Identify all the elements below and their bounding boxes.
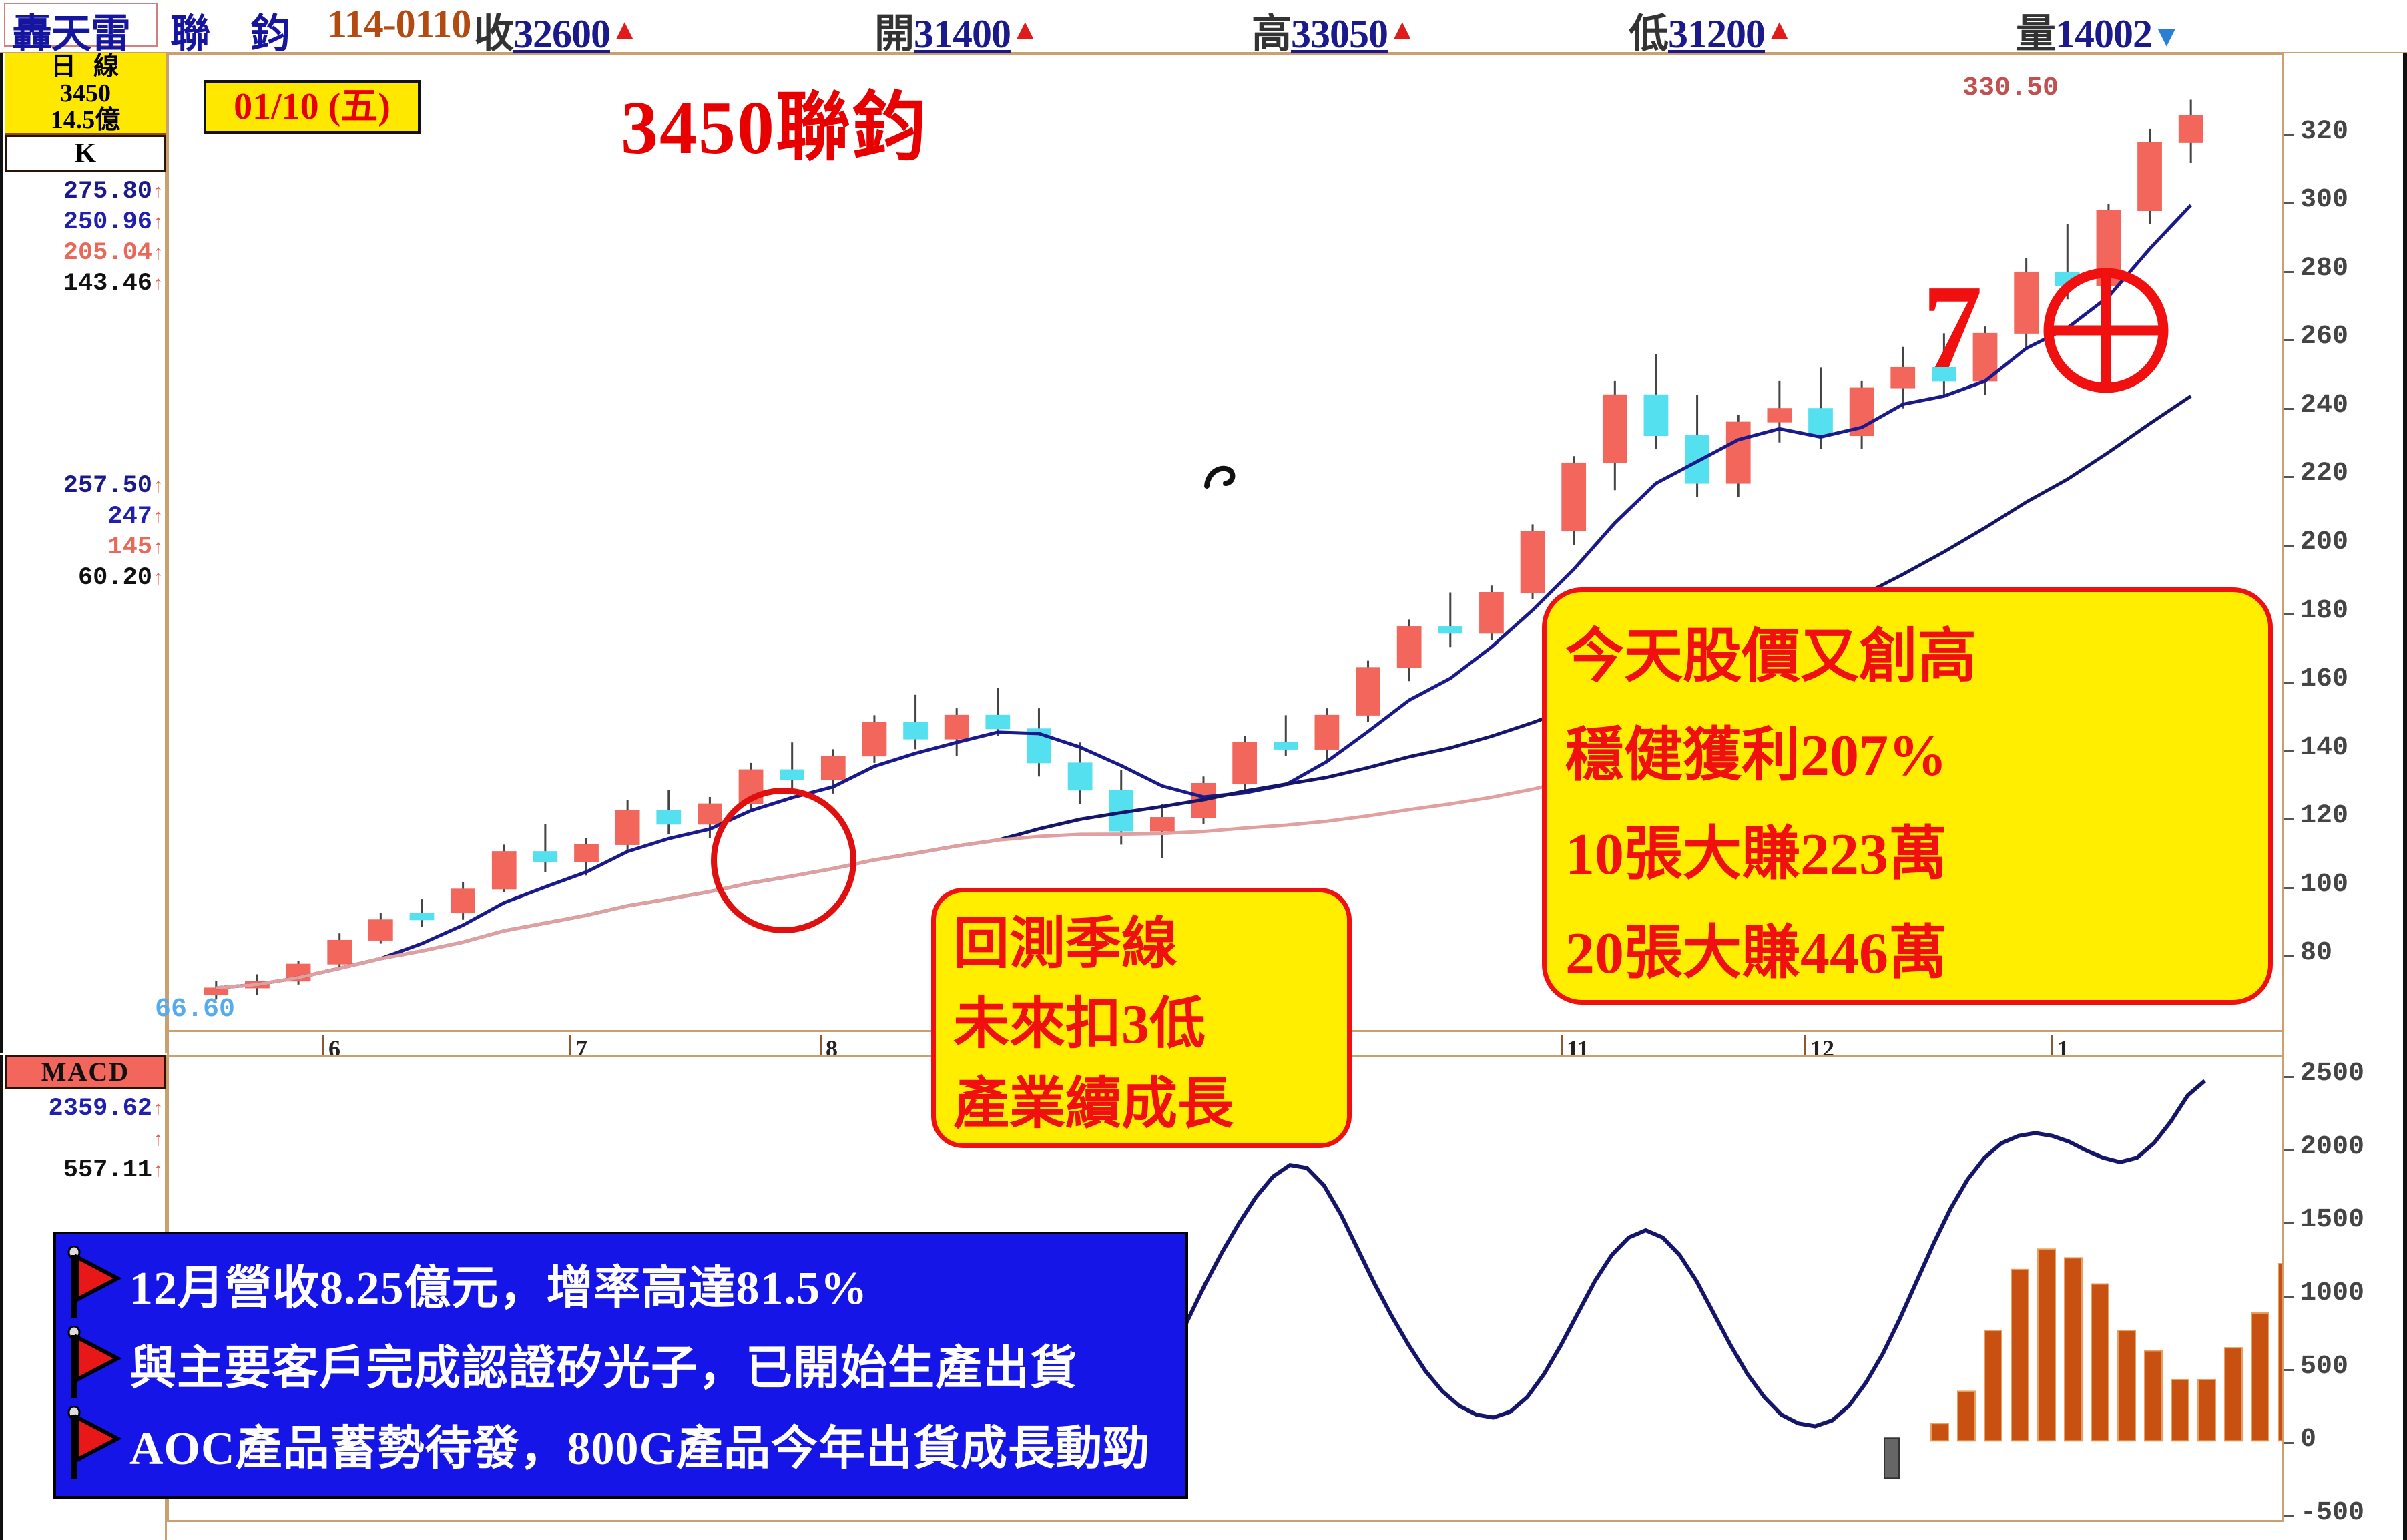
ma-row: 145↑	[3, 532, 167, 563]
price-axis-tick-label: 140	[2300, 733, 2348, 763]
up-arrow-icon: ▲	[1011, 13, 1039, 46]
stock-name-2: 鈞	[250, 1, 290, 59]
news-item: AOC產品蓄勢待發，800G產品今年出貨成長動勁	[65, 1404, 1185, 1484]
price-axis-tick-label: 200	[2300, 527, 2348, 557]
ma-row: 205.04↑	[3, 238, 167, 268]
ma-row: 143.46↑	[3, 268, 167, 299]
ma-value: 60.20	[78, 564, 152, 592]
quote-high-label: 高	[1252, 12, 1291, 56]
price-axis-tick-label: 220	[2300, 459, 2348, 489]
macd-row: ↑	[3, 1124, 167, 1155]
ma-row: 247↑	[3, 501, 167, 532]
callout-profit-line: 穩健獲利207%	[1565, 707, 2268, 806]
macd-row: 557.11↑	[3, 1155, 167, 1186]
macd-axis-tick-label: 1500	[2300, 1205, 2364, 1235]
stock-name-prefix: 轟天雷	[12, 1, 130, 59]
turnover-label: 14.5億	[5, 107, 166, 134]
quote-volume-label: 量	[2016, 12, 2055, 56]
up-arrow-icon: ▲	[1388, 13, 1416, 46]
price-axis-tickmark	[2284, 613, 2294, 615]
macd-axis-tick-label: 2000	[2300, 1132, 2364, 1162]
quote-high: 高33050▲	[1252, 1, 1416, 59]
price-axis-tickmark	[2284, 476, 2294, 478]
quote-volume: 量14002▼	[2016, 1, 2181, 59]
ma-row: 257.50↑	[3, 471, 167, 501]
callout-ma-line: 未來扣3低	[953, 985, 1347, 1065]
price-axis-tick-label: 320	[2300, 117, 2348, 147]
news-banner: 12月營收8.25億元，增率高達81.5% 與主要客戶完成認證矽光子，已開始生產…	[53, 1232, 1188, 1499]
low-price-annotation: 66.60	[155, 995, 235, 1025]
high-price-annotation: 330.50	[1962, 73, 2059, 103]
macd-values: 2359.62↑ ↑ 557.11↑	[3, 1093, 167, 1186]
pullback-highlight-circle	[711, 788, 856, 933]
callout-profit: 今天股價又創高 穩健獲利207% 10張大賺223萬 20張大賺446萬	[1542, 587, 2273, 1005]
period-badge[interactable]: 日線 3450 14.5億	[5, 53, 166, 135]
ma-value: 145	[107, 533, 152, 561]
macd-axis-tickmark	[2284, 1442, 2294, 1444]
price-axis-tickmark	[2284, 750, 2294, 752]
price-axis-tickmark	[2284, 134, 2294, 136]
up-arrow-icon: ↑	[152, 476, 164, 499]
macd-axis-tickmark	[2284, 1076, 2294, 1078]
price-axis-tick-label: 280	[2300, 254, 2348, 284]
price-axis-tickmark	[2284, 408, 2294, 410]
ma-value: 205.04	[63, 239, 152, 267]
seven-marker: 7	[1922, 267, 1982, 387]
hook-annotation	[1201, 461, 1242, 501]
ma-row: 60.20↑	[3, 563, 167, 593]
callout-ma-line: 回測季線	[953, 905, 1347, 985]
quote-low-label: 低	[1629, 12, 1668, 56]
up-arrow-icon: ↑	[152, 537, 164, 560]
macd-axis-tick-label: 500	[2300, 1352, 2348, 1382]
callout-profit-line: 20張大賺446萬	[1565, 905, 2268, 1003]
ma-value: 247	[107, 503, 152, 531]
up-arrow-icon: ↑	[152, 507, 164, 529]
quote-volume-value: 14002	[2055, 12, 2152, 56]
ma-values-group-2: 257.50↑ 247↑ 145↑ 60.20↑	[3, 471, 167, 593]
quote-low-value: 31200	[1668, 12, 1765, 56]
macd-axis-tick-label: -500	[2300, 1498, 2364, 1528]
callout-profit-line: 10張大賺223萬	[1565, 806, 2268, 905]
quote-close-label: 收	[474, 12, 513, 56]
price-axis-tick-label: 300	[2300, 185, 2348, 215]
up-arrow-icon: ↑	[152, 568, 164, 591]
ma-row: 250.96↑	[3, 207, 167, 238]
price-axis-tickmark	[2284, 955, 2294, 957]
price-axis-tickmark	[2284, 271, 2294, 273]
price-axis-tickmark	[2284, 339, 2294, 341]
callout-ma-line: 產業續成長	[953, 1065, 1347, 1145]
page-title: 3450聯鈞	[621, 67, 928, 175]
price-axis-tickmark	[2284, 202, 2294, 204]
quote-close: 收32600▲	[474, 1, 639, 59]
date-badge: 01/10 (五)	[204, 80, 421, 134]
up-arrow-icon: ↑	[152, 1099, 164, 1121]
macd-value: 2359.62	[49, 1095, 152, 1123]
news-item: 與主要客戶完成認證矽光子，已開始生產出貨	[65, 1324, 1185, 1404]
macd-axis-tickmark	[2284, 1515, 2294, 1517]
quote-open: 開31400▲	[874, 1, 1039, 59]
up-arrow-icon: ↑	[152, 1129, 164, 1152]
ma-value: 275.80	[63, 178, 152, 206]
macd-axis-tickmark	[2284, 1222, 2294, 1224]
price-axis-tick-label: 180	[2300, 596, 2348, 626]
price-axis-tick-label: 100	[2300, 870, 2348, 900]
news-text: 12月營收8.25億元，增率高達81.5%	[129, 1250, 868, 1318]
crosshair-circle-icon	[2043, 267, 2169, 394]
callout-ma-pullback: 回測季線 未來扣3低 產業續成長	[931, 888, 1352, 1148]
ma-value: 250.96	[63, 208, 152, 236]
right-value-axis: 3203002802602402202001801601401201008025…	[2284, 53, 2407, 1540]
price-axis-tick-label: 120	[2300, 801, 2348, 831]
quote-close-value: 32600	[513, 12, 610, 56]
news-text: AOC產品蓄勢待發，800G產品今年出貨成長動勁	[129, 1410, 1150, 1478]
macd-axis-tick-label: 2500	[2300, 1059, 2364, 1089]
callout-profit-line: 今天股價又創高	[1565, 608, 2268, 707]
macd-axis-tick-label: 1000	[2300, 1278, 2364, 1308]
news-text: 與主要客戶完成認證矽光子，已開始生產出貨	[129, 1330, 1077, 1398]
stock-code-label: 3450	[5, 80, 166, 107]
price-axis-tick-label: 160	[2300, 664, 2348, 694]
macd-value: 557.11	[63, 1156, 152, 1184]
macd-axis-tick-label: 0	[2300, 1425, 2316, 1455]
price-axis-tickmark	[2284, 818, 2294, 820]
left-info-panel: 日線 3450 14.5億 K 275.80↑ 250.96↑ 205.04↑ …	[0, 53, 167, 1053]
quote-open-label: 開	[874, 12, 914, 56]
period-label: 日線	[5, 53, 166, 80]
up-arrow-icon: ↑	[152, 1160, 164, 1183]
price-axis-tickmark	[2284, 545, 2294, 547]
quote-open-value: 31400	[914, 12, 1011, 56]
ma-value: 143.46	[63, 270, 152, 298]
price-axis-tickmark	[2284, 682, 2294, 684]
price-axis-tickmark	[2284, 887, 2294, 889]
indicator-macd-button[interactable]: MACD	[5, 1055, 166, 1089]
ma-row: 275.80↑	[3, 176, 167, 207]
up-arrow-icon: ▲	[610, 13, 639, 46]
macd-row: 2359.62↑	[3, 1093, 167, 1124]
red-flag-icon	[65, 1246, 123, 1321]
stock-name: 聯	[170, 1, 210, 59]
indicator-k-button[interactable]: K	[5, 135, 166, 172]
quote-bar: 轟天雷 聯 鈞 114-0110 收32600▲ 開31400▲ 高33050▲…	[0, 0, 2407, 54]
macd-axis-tickmark	[2284, 1149, 2294, 1151]
quote-date-code: 114-0110	[327, 1, 471, 47]
up-arrow-icon: ↑	[152, 243, 164, 266]
price-axis-tick-label: 240	[2300, 391, 2348, 421]
down-arrow-icon: ▼	[2152, 20, 2181, 53]
price-axis-tick-label: 260	[2300, 322, 2348, 352]
up-arrow-icon: ↑	[152, 182, 164, 204]
ma-value: 257.50	[63, 472, 152, 500]
red-flag-icon	[65, 1406, 123, 1481]
red-flag-icon	[65, 1326, 123, 1401]
up-arrow-icon: ↑	[152, 274, 164, 296]
up-arrow-icon: ▲	[1765, 13, 1794, 46]
news-item: 12月營收8.25億元，增率高達81.5%	[65, 1244, 1185, 1324]
macd-axis-tickmark	[2284, 1369, 2294, 1371]
quote-low: 低31200▲	[1629, 1, 1794, 59]
price-axis-tick-label: 80	[2300, 938, 2332, 968]
ma-values-group-1: 275.80↑ 250.96↑ 205.04↑ 143.46↑	[3, 176, 167, 299]
up-arrow-icon: ↑	[152, 212, 164, 235]
macd-axis-tickmark	[2284, 1296, 2294, 1298]
quote-high-value: 33050	[1291, 12, 1388, 56]
